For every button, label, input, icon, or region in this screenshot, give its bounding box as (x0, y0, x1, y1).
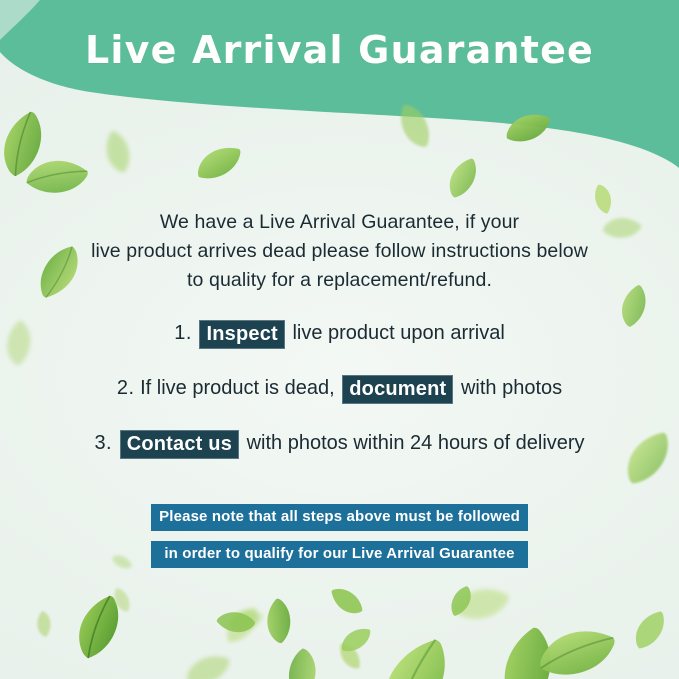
leaf-icon (387, 98, 442, 153)
step-highlight-inspect: Inspect (199, 320, 284, 349)
notice-bar-line-1: Please note that all steps above must be… (151, 504, 528, 531)
leaf-icon (472, 614, 583, 679)
notice-block: Please note that all steps above must be… (151, 504, 528, 578)
leaf-icon (334, 640, 366, 672)
step-item: 3. Contact us with photos within 24 hour… (30, 428, 649, 458)
step-text-before: If live product is dead, (140, 377, 335, 399)
leaf-icon (0, 101, 65, 187)
leaf-icon (180, 642, 236, 679)
leaf-icon (528, 604, 627, 679)
leaf-icon (107, 585, 138, 616)
step-text-after: live product upon arrival (292, 322, 504, 344)
live-arrival-guarantee-card: Live Arrival Guarantee We have a Live Ar… (0, 0, 679, 679)
leaf-icon (191, 135, 247, 191)
step-text-after: with photos within 24 hours of delivery (247, 432, 585, 454)
leaf-icon (268, 640, 336, 679)
page-title: Live Arrival Guarantee (0, 28, 679, 72)
step-number: 3. (94, 432, 112, 454)
step-highlight-contact-us: Contact us (120, 430, 239, 459)
leaf-icon (442, 582, 480, 620)
step-number: 1. (174, 322, 192, 344)
step-text-after: with photos (461, 377, 562, 399)
leaf-icon (219, 598, 264, 652)
leaf-icon (27, 607, 61, 641)
leaf-icon (327, 581, 366, 620)
intro-line-2: live product arrives dead please follow … (50, 237, 629, 266)
leaf-icon (91, 125, 146, 180)
leaf-icon (16, 136, 97, 217)
step-highlight-document: document (342, 375, 453, 404)
notice-bar-line-2: in order to qualify for our Live Arrival… (151, 541, 528, 568)
leaf-icon (211, 597, 262, 648)
leaf-icon (59, 587, 140, 668)
leaf-icon (499, 99, 556, 156)
leaf-icon (109, 549, 135, 575)
leaf-icon (626, 606, 673, 653)
leaf-icon (249, 591, 308, 650)
intro-line-1: We have a Live Arrival Guarantee, if you… (50, 208, 629, 237)
leaf-icon (446, 568, 517, 639)
steps-list: 1. Inspect live product upon arrival 2. … (30, 318, 649, 483)
step-item: 1. Inspect live product upon arrival (30, 318, 649, 348)
step-item: 2. If live product is dead, document wit… (30, 373, 649, 403)
leaf-icon (359, 627, 470, 679)
step-number: 2. (117, 377, 135, 399)
leaf-icon (337, 621, 374, 658)
leaf-icon (438, 153, 488, 203)
intro-line-3: to quality for a replacement/refund. (50, 266, 629, 295)
leaf-icon (221, 593, 271, 647)
intro-paragraph: We have a Live Arrival Guarantee, if you… (50, 208, 629, 295)
